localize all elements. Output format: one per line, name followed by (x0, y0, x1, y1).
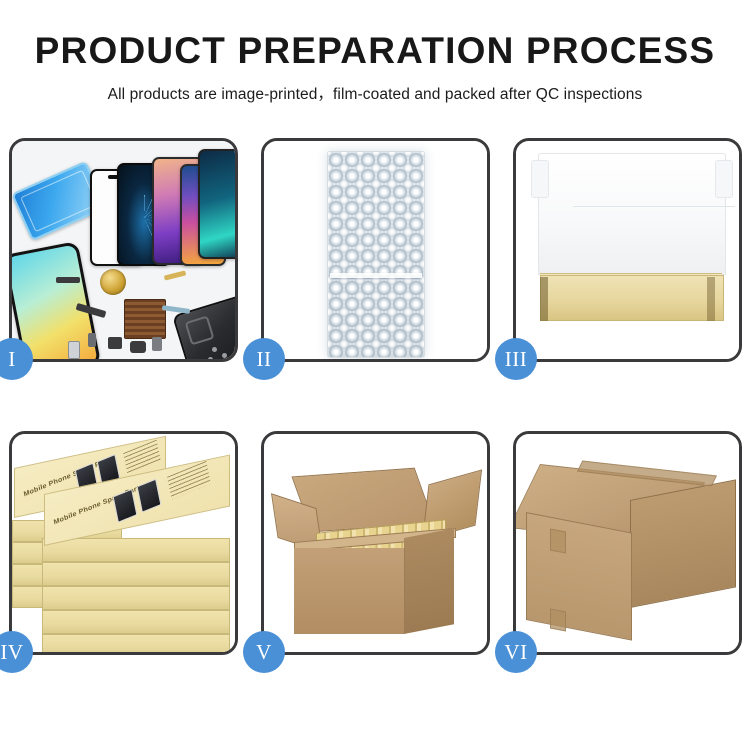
flex-cable-icon (164, 270, 187, 280)
step-badge-6: VI (495, 631, 537, 673)
grid-board-part-icon (124, 299, 166, 339)
step-image-2 (264, 141, 487, 359)
spare-part-icon (56, 277, 80, 283)
flex-cable-icon (162, 305, 190, 314)
screw-icon (212, 347, 217, 352)
step-badge-3: III (495, 338, 537, 380)
step-image-5 (264, 434, 487, 652)
step-image-4: Mobile Phone Spare Parts Mobile Phone Sp… (12, 434, 235, 652)
carton-side-face (404, 528, 454, 634)
step-card-3[interactable]: III (513, 138, 742, 362)
step-badge-2: II (243, 338, 285, 380)
step-badge-5: V (243, 631, 285, 673)
step-card-2[interactable]: II (261, 138, 490, 362)
process-grid: I II III (9, 138, 741, 655)
screw-icon (208, 357, 213, 359)
page-title: PRODUCT PREPARATION PROCESS (0, 32, 750, 71)
spare-part-icon (108, 337, 122, 349)
kraft-box-body-icon (540, 275, 724, 321)
bubble-wrap-icon (327, 151, 425, 358)
spare-part-icon (88, 333, 96, 347)
sealed-carton-front (526, 512, 632, 641)
page-subtitle: All products are image-printed，film-coat… (0, 82, 750, 104)
step-card-5[interactable]: V (261, 431, 490, 655)
spare-part-icon (68, 341, 80, 359)
box-side-left (540, 277, 548, 321)
sealed-carton-side (630, 479, 736, 608)
phone-screen-teal-icon (198, 149, 235, 259)
screw-icon (222, 353, 227, 358)
step-card-6[interactable]: VI (513, 431, 742, 655)
step-image-3 (516, 141, 739, 359)
step-card-4[interactable]: Mobile Phone Spare Parts Mobile Phone Sp… (9, 431, 238, 655)
phone-back-housing-icon (172, 293, 235, 359)
step-image-6 (516, 434, 739, 652)
box-side-right (707, 277, 715, 321)
step-card-1[interactable]: I (9, 138, 238, 362)
spare-part-icon (152, 337, 162, 351)
page-header: PRODUCT PREPARATION PROCESS All products… (0, 0, 750, 104)
box-lid-icon (538, 153, 726, 275)
gold-coil-part-icon (100, 269, 126, 295)
spare-part-icon (130, 341, 146, 353)
carton-tape-front-lower (550, 608, 566, 631)
carton-front-face (294, 548, 405, 634)
step-image-1 (12, 141, 235, 359)
bubble-wrap-seam (330, 273, 422, 278)
carton-tape-front-upper (550, 528, 566, 553)
